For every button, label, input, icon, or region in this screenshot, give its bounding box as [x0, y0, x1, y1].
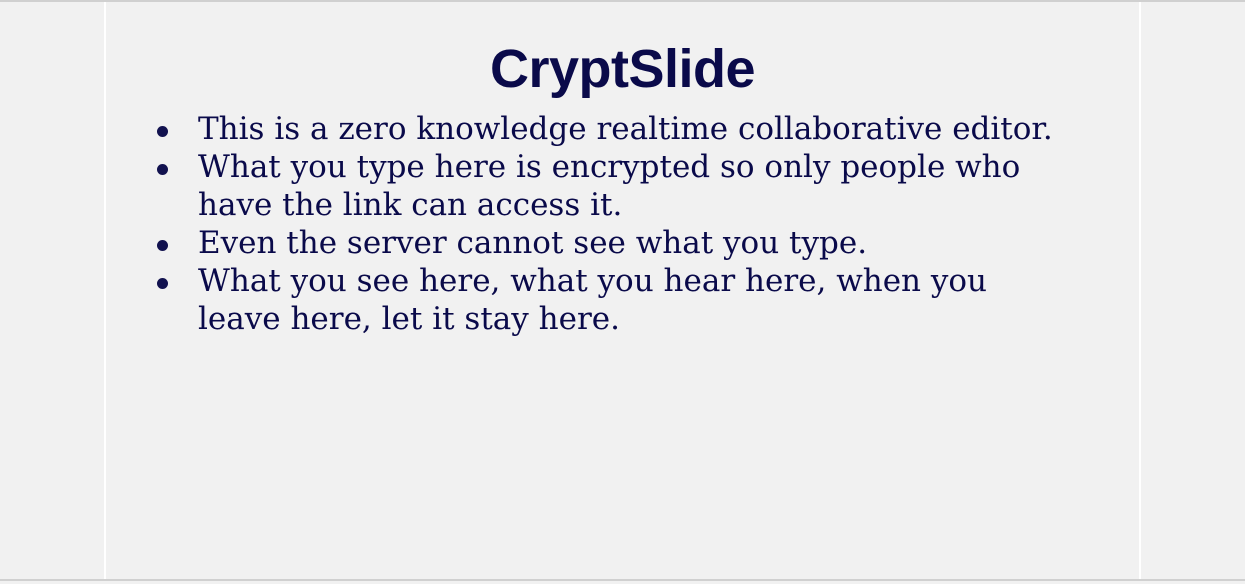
- list-item: What you see here, what you hear here, w…: [152, 262, 1077, 338]
- list-item: What you type here is encrypted so only …: [152, 148, 1077, 224]
- bullet-text: What you type here is encrypted so only …: [198, 149, 1020, 223]
- slide-canvas[interactable]: CryptSlide This is a zero knowledge real…: [106, 2, 1139, 579]
- bullet-text: Even the server cannot see what you type…: [198, 225, 867, 261]
- list-item: This is a zero knowledge realtime collab…: [152, 110, 1077, 148]
- bullet-text: What you see here, what you hear here, w…: [198, 263, 987, 337]
- slide-title: CryptSlide: [106, 2, 1139, 96]
- slide-viewer: CryptSlide This is a zero knowledge real…: [0, 0, 1245, 584]
- bullet-text: This is a zero knowledge realtime collab…: [198, 111, 1053, 147]
- slide-right-divider: [1139, 2, 1141, 579]
- list-item: Even the server cannot see what you type…: [152, 224, 1077, 262]
- bottom-divider-rule: [0, 579, 1245, 581]
- left-gutter: [0, 2, 105, 579]
- right-gutter: [1141, 2, 1245, 579]
- slide-bullet-list: This is a zero knowledge realtime collab…: [106, 96, 1139, 338]
